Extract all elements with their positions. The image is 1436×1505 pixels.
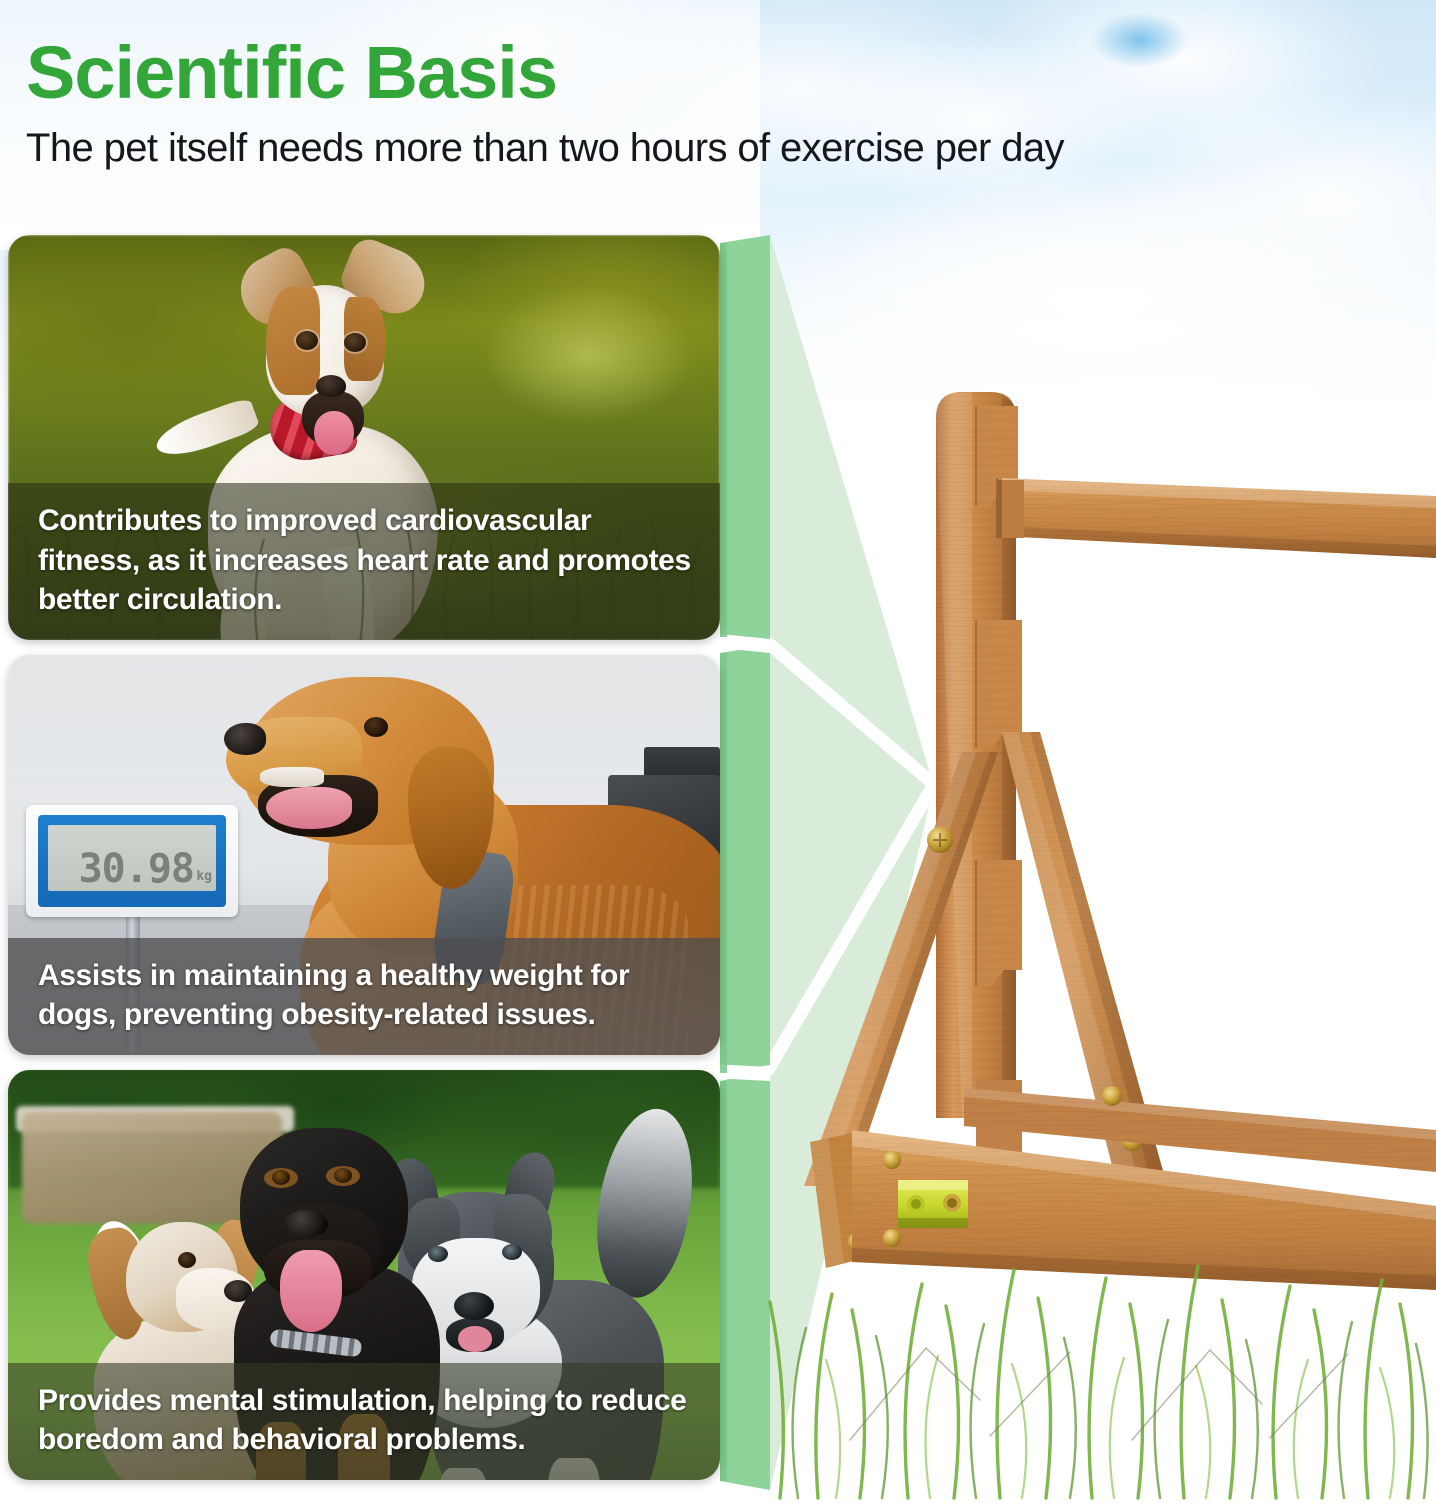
screw-head [1102, 1086, 1122, 1106]
rottweiler-tongue [280, 1250, 342, 1332]
beagle-eye [178, 1252, 196, 1268]
dog-eye-left [296, 331, 318, 350]
card-caption: Provides mental stimulation, helping to … [8, 1363, 720, 1480]
dog-nose [316, 375, 346, 397]
husky-nose [454, 1292, 494, 1320]
foreground-grass [740, 1240, 1436, 1500]
dog-nose [224, 723, 266, 755]
dog-tongue [266, 787, 352, 829]
dog-tongue [314, 411, 354, 455]
card-caption: Assists in maintaining a healthy weight … [8, 938, 720, 1055]
benefit-card-cardiovascular: Contributes to improved cardiovascular f… [8, 235, 720, 640]
sunlight-glow [438, 255, 720, 455]
husky-eye-right [502, 1244, 522, 1260]
header: Scientific Basis The pet itself needs mo… [26, 36, 1406, 171]
benefit-card-healthy-weight: 30.98 kg Assists in maintaining a health… [8, 655, 720, 1055]
card-caption: Contributes to improved cardiovascular f… [8, 483, 720, 640]
husky-tongue [458, 1326, 492, 1352]
metal-corner-bracket [898, 1180, 968, 1228]
benefit-card-mental-stimulation: Provides mental stimulation, helping to … [8, 1070, 720, 1480]
scale-lcd-screen: 30.98 kg [48, 825, 216, 891]
scale-weight-value: 30.98 [79, 849, 194, 889]
rottweiler-eye-right [334, 1168, 352, 1183]
page-subtitle: The pet itself needs more than two hours… [26, 126, 1406, 171]
dog-eye-right [344, 333, 366, 352]
rottweiler-eye-left [272, 1170, 290, 1185]
band-edge [720, 243, 727, 1481]
rottweiler-nose [284, 1210, 328, 1238]
scale-weight-unit: kg [196, 869, 212, 884]
husky-eye-left [428, 1246, 448, 1262]
dog-eye [364, 717, 388, 737]
page-title: Scientific Basis [26, 36, 1406, 110]
product-image-wooden-dog-agility-jump [740, 300, 1436, 1350]
horizontal-jump-bar [996, 478, 1436, 558]
dog-teeth [260, 767, 324, 787]
